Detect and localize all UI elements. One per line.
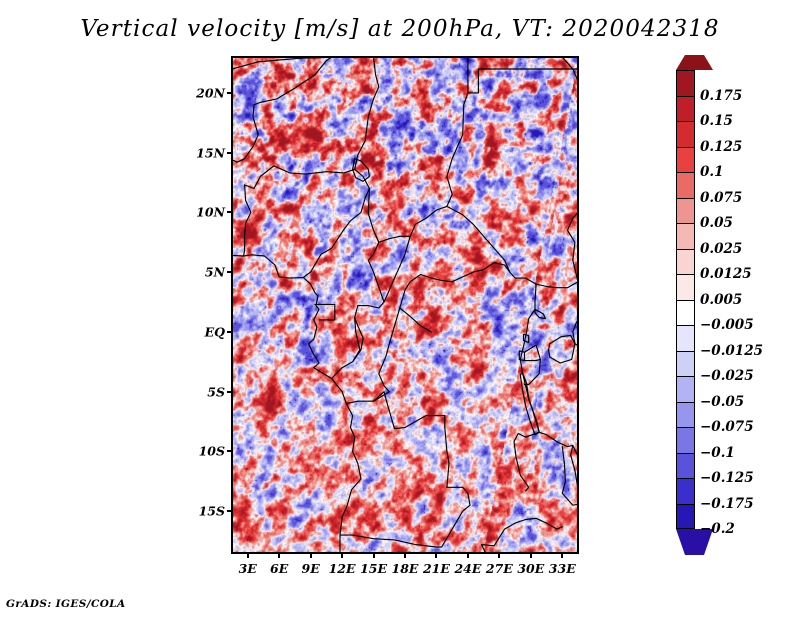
x-axis-tick <box>278 553 280 558</box>
colorbar-tick-label: 0.1 <box>700 164 724 180</box>
colorbar-segment <box>676 504 695 530</box>
x-axis-label: 18E <box>392 561 419 576</box>
map-border-line <box>568 147 579 282</box>
map-border-line <box>400 308 431 332</box>
x-axis-label: 30E <box>517 561 544 576</box>
y-axis-tick <box>227 450 232 452</box>
colorbar-segment <box>676 147 695 173</box>
colorbar-segment <box>676 172 695 198</box>
x-axis-tick <box>498 553 500 558</box>
colorbar-segment <box>676 300 695 326</box>
x-axis-label: 27E <box>486 561 513 576</box>
colorbar-segment <box>676 325 695 351</box>
map-border-line <box>525 345 541 361</box>
x-axis-tick <box>341 553 343 558</box>
map-border-line <box>573 302 578 344</box>
colorbar-segment <box>676 427 695 453</box>
map-border-line <box>244 185 251 256</box>
colorbar-segment <box>676 70 695 96</box>
colorbar-tick-label: −0.075 <box>700 419 754 435</box>
colorbar-tick-label: 0.15 <box>700 113 733 129</box>
y-axis-label: 15S <box>175 504 225 519</box>
x-axis-label: 3E <box>239 561 257 576</box>
x-axis-tick <box>310 553 312 558</box>
x-axis-label: 15E <box>360 561 387 576</box>
colorbar-segment <box>676 351 695 377</box>
colorbar-tick-label: 0.025 <box>700 241 742 257</box>
colorbar-tick-label: 0.175 <box>700 88 742 104</box>
y-axis-label: 5N <box>175 265 225 280</box>
x-axis-label: 6E <box>270 561 288 576</box>
map-border-line <box>520 373 539 435</box>
colorbar-arrow-up <box>676 55 713 70</box>
x-axis-tick <box>435 553 437 558</box>
map-border-line <box>232 105 258 162</box>
footer-credit: GrADS: IGES/COLA <box>6 598 126 610</box>
colorbar-segment <box>676 478 695 504</box>
y-axis-tick <box>227 152 232 154</box>
y-axis-label: 10S <box>175 444 225 459</box>
map-border-line <box>442 487 470 547</box>
colorbar-segment <box>676 96 695 122</box>
map-border-line <box>468 57 578 93</box>
colorbar-tick-label: −0.175 <box>700 496 754 512</box>
x-axis-tick <box>247 553 249 558</box>
map-border-line <box>254 57 332 105</box>
map-border-line <box>232 255 361 553</box>
colorbar-segment <box>676 198 695 224</box>
colorbar-segment <box>676 453 695 479</box>
colorbar-tick-label: 0.005 <box>700 292 742 308</box>
map-border-line <box>482 545 516 553</box>
colorbar-tick-label: −0.025 <box>700 368 754 384</box>
map-border-line <box>245 166 355 189</box>
y-axis-tick <box>227 271 232 273</box>
colorbar-tick-label: 0.0125 <box>700 266 752 282</box>
map-plot-area <box>232 57 578 553</box>
colorbar-tick-label: −0.2 <box>700 521 735 537</box>
y-axis-tick <box>227 510 232 512</box>
y-axis-tick <box>227 211 232 213</box>
plot-stage: Vertical velocity [m/s] at 200hPa, VT: 2… <box>0 0 800 618</box>
map-border-line <box>539 432 573 446</box>
colorbar-tick-label: −0.005 <box>700 317 754 333</box>
map-border-line <box>549 336 575 364</box>
map-border-line <box>303 169 369 277</box>
y-axis-label: 20N <box>175 85 225 100</box>
x-axis-label: 12E <box>329 561 356 576</box>
map-border-line <box>535 309 546 319</box>
colorbar-segment <box>676 274 695 300</box>
map-borders-overlay <box>232 57 578 553</box>
x-axis-label: 33E <box>549 561 576 576</box>
colorbar-tick-label: 0.05 <box>700 215 733 231</box>
x-axis-label: 9E <box>302 561 320 576</box>
y-axis-tick <box>227 331 232 333</box>
y-axis-label: 10N <box>175 205 225 220</box>
map-border-line <box>374 392 450 488</box>
colorbar-tick-label: −0.05 <box>700 394 744 410</box>
colorbar-tick-label: −0.0125 <box>700 343 763 359</box>
map-border-line <box>355 57 379 169</box>
x-axis-tick <box>530 553 532 558</box>
x-axis-tick <box>467 553 469 558</box>
colorbar-segment <box>676 249 695 275</box>
map-border-line <box>368 189 447 243</box>
colorbar <box>676 70 695 529</box>
colorbar-tick-label: 0.075 <box>700 190 742 206</box>
colorbar-segment <box>676 121 695 147</box>
colorbar-tick-label: −0.125 <box>700 470 754 486</box>
y-axis-label: 15N <box>175 145 225 160</box>
map-border-line <box>340 535 442 547</box>
x-axis-label: 21E <box>423 561 450 576</box>
y-axis-tick <box>227 391 232 393</box>
y-axis-label: EQ <box>175 324 225 339</box>
x-axis-label: 24E <box>454 561 481 576</box>
colorbar-segment <box>676 376 695 402</box>
map-border-line <box>232 57 342 69</box>
page-title: Vertical velocity [m/s] at 200hPa, VT: 2… <box>0 16 800 42</box>
colorbar-tick-label: 0.125 <box>700 139 742 155</box>
map-border-line <box>447 93 468 206</box>
map-border-line <box>571 445 578 504</box>
map-border-line <box>575 344 578 374</box>
map-border-line <box>405 263 510 291</box>
colorbar-tick-label: −0.1 <box>700 445 735 461</box>
map-border-line <box>514 284 539 491</box>
colorbar-segment <box>676 402 695 428</box>
map-border-line <box>525 359 541 384</box>
map-border-line <box>482 518 563 546</box>
colorbar-segment <box>676 223 695 249</box>
y-axis-label: 5S <box>175 384 225 399</box>
x-axis-tick <box>561 553 563 558</box>
x-axis-tick <box>373 553 375 558</box>
x-axis-tick <box>404 553 406 558</box>
y-axis-tick <box>227 92 232 94</box>
